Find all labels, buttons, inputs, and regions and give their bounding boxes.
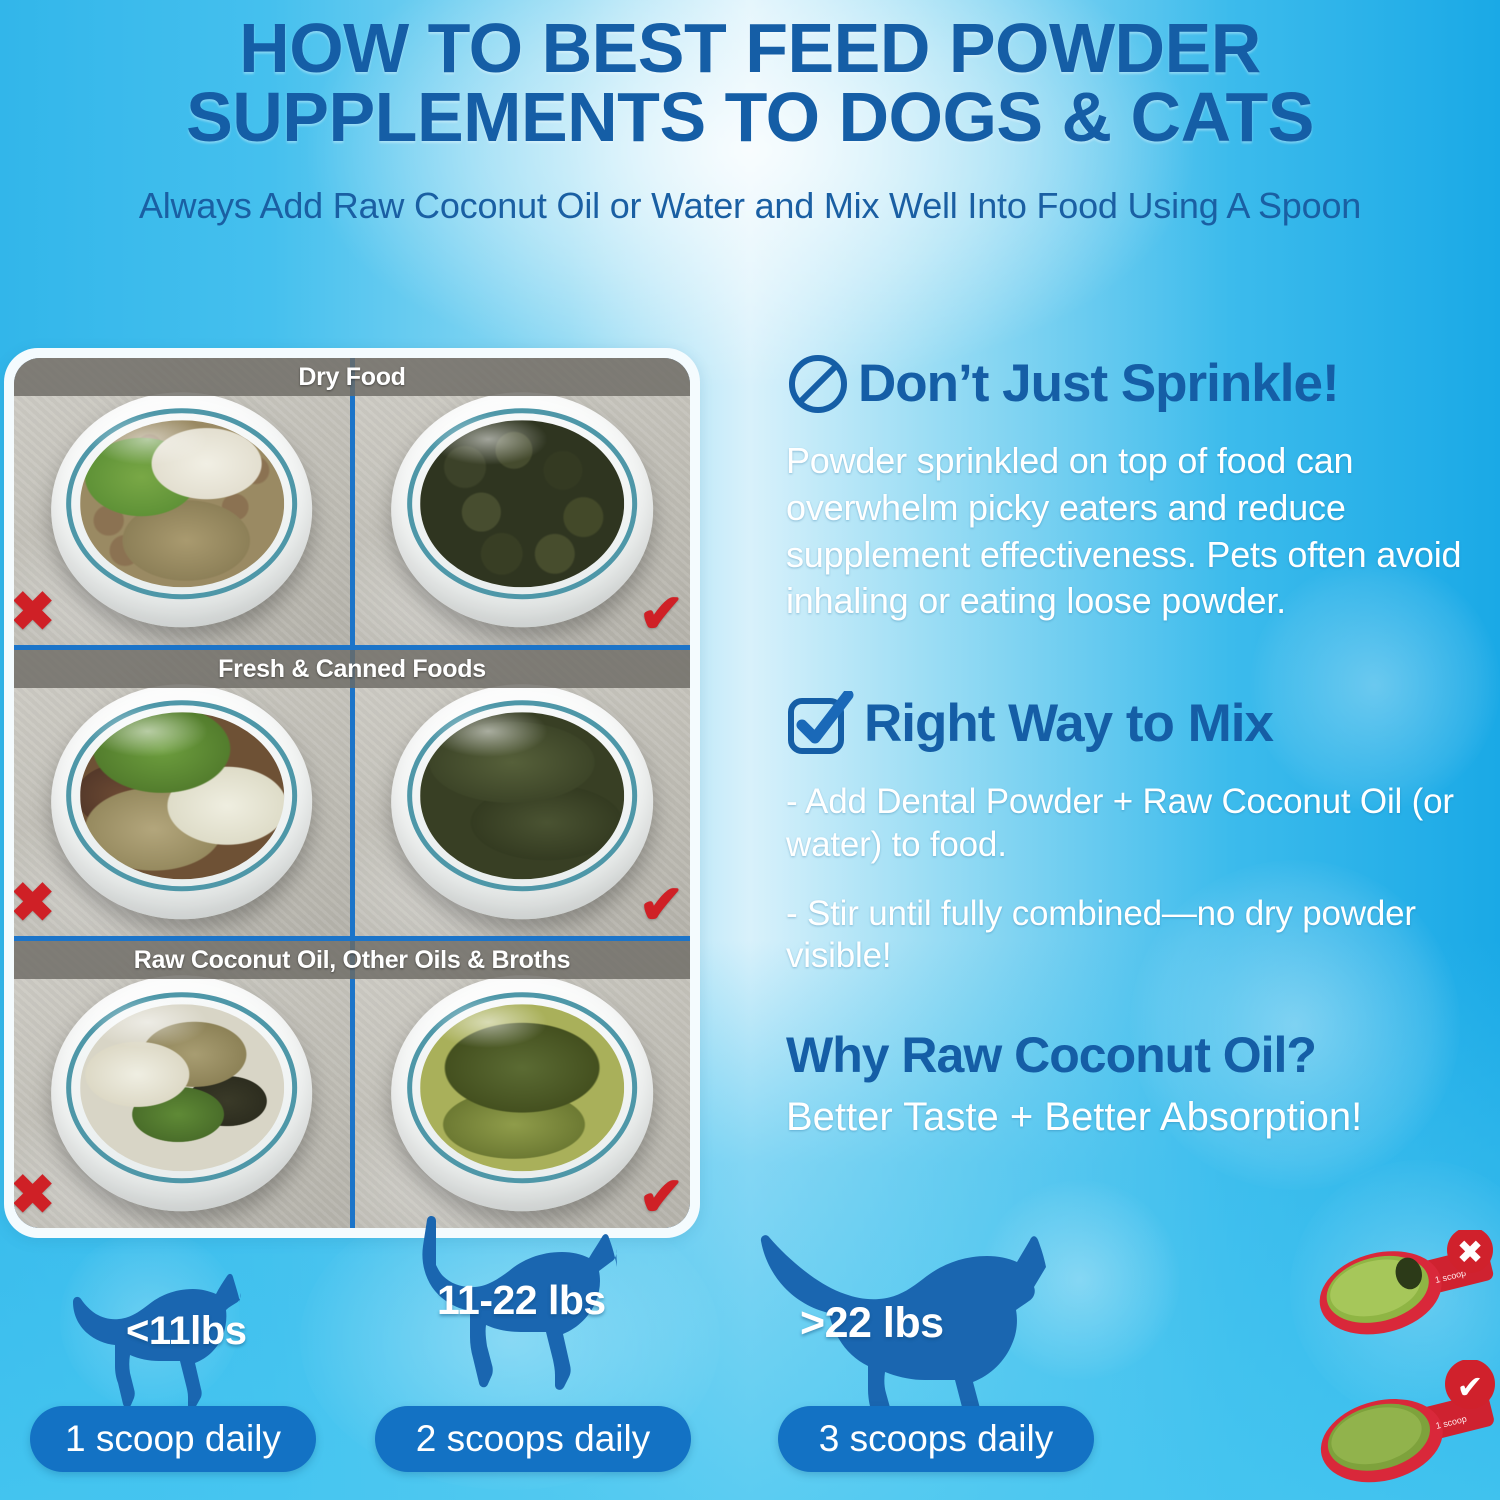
bowl-glare (428, 413, 548, 465)
check-mark: ✔ (639, 1170, 684, 1224)
scoop-mixed-powder: 1 scoop ✔ (1318, 1360, 1500, 1498)
prohibition-icon (786, 352, 850, 416)
check-badge: ✔ (1457, 1369, 1484, 1405)
bowl-glare (88, 413, 208, 465)
bowl-glare (428, 705, 548, 757)
photo-comparison-card: Dry Food ✖ (4, 348, 700, 1238)
dose-pill-large[interactable]: 3 scoops daily (778, 1406, 1094, 1472)
mix-bullet-1: - Add Dental Powder + Raw Coconut Oil (o… (786, 781, 1476, 866)
bowl-glare (428, 997, 548, 1049)
page-title: HOW TO BEST FEED POWDER SUPPLEMENTS TO D… (0, 14, 1500, 151)
sprinkle-heading: Don’t Just Sprinkle! (858, 357, 1339, 411)
why-heading: Why Raw Coconut Oil? (786, 1030, 1476, 1081)
scoop-dry-powder: 1 scoop ✖ (1318, 1230, 1500, 1360)
mix-bullet-2: - Stir until fully combined—no dry powde… (786, 893, 1476, 978)
photo-grid: Dry Food ✖ (14, 358, 690, 1228)
header: HOW TO BEST FEED POWDER SUPPLEMENTS TO D… (0, 14, 1500, 227)
weight-label-medium: 11-22 lbs (437, 1277, 606, 1324)
food-bowl (51, 392, 313, 628)
bowl-scene (14, 650, 350, 937)
checkbox-checked-icon (786, 691, 856, 757)
food-bowl (391, 684, 653, 920)
photo-cell-mixed: ✔ (355, 650, 691, 937)
photo-cell-unmixed: ✖ (14, 650, 350, 937)
x-mark: ✖ (14, 1168, 55, 1222)
dosage-item-large: >22 lbs 3 scoops daily (750, 1222, 1110, 1482)
food-bowl (51, 976, 313, 1212)
bowl-scene (14, 941, 350, 1228)
photo-row-label: Fresh & Canned Foods (14, 650, 690, 688)
photo-cell-unmixed: ✖ (14, 358, 350, 645)
bowl-glare (88, 705, 208, 757)
food-bowl (391, 976, 653, 1212)
photo-row-dry-food: Dry Food ✖ (14, 358, 690, 645)
photo-row-oils-broths: Raw Coconut Oil, Other Oils & Broths ✖ (14, 941, 690, 1228)
mix-heading-row: Right Way to Mix (786, 691, 1476, 757)
food-bowl (51, 684, 313, 920)
bowl-glare (88, 997, 208, 1049)
dosage-guide: <11lbs 1 scoop daily 11-22 lbs 2 scoops … (0, 1230, 1140, 1500)
why-subheading: Better Taste + Better Absorption! (786, 1095, 1476, 1139)
sprinkle-heading-row: Don’t Just Sprinkle! (786, 352, 1476, 416)
x-mark: ✖ (14, 876, 55, 930)
weight-label-small: <11lbs (126, 1309, 246, 1354)
x-mark: ✖ (14, 585, 55, 639)
check-mark: ✔ (639, 878, 684, 932)
check-mark: ✔ (639, 587, 684, 641)
bowl-scene (14, 358, 350, 645)
photo-cell-unmixed: ✖ (14, 941, 350, 1228)
photo-row-fresh-canned: Fresh & Canned Foods ✖ (14, 650, 690, 937)
photo-cell-mixed: ✔ (355, 941, 691, 1228)
dose-pill-small[interactable]: 1 scoop daily (30, 1406, 316, 1472)
food-bowl (391, 392, 653, 628)
title-line-2: SUPPLEMENTS TO DOGS & CATS (58, 83, 1442, 152)
instructions-column: Don’t Just Sprinkle! Powder sprinkled on… (786, 352, 1476, 1139)
weight-label-large: >22 lbs (800, 1299, 944, 1348)
sprinkle-body-text: Powder sprinkled on top of food can over… (786, 438, 1476, 625)
photo-cell-mixed: ✔ (355, 358, 691, 645)
photo-row-label: Dry Food (14, 358, 690, 396)
page-subtitle: Always Add Raw Coconut Oil or Water and … (0, 185, 1500, 227)
dosage-item-small: <11lbs 1 scoop daily (30, 1232, 330, 1482)
x-badge: ✖ (1457, 1234, 1484, 1270)
photo-row-label: Raw Coconut Oil, Other Oils & Broths (14, 941, 690, 979)
title-line-1: HOW TO BEST FEED POWDER (58, 14, 1442, 83)
mix-heading: Right Way to Mix (864, 697, 1273, 751)
dose-pill-medium[interactable]: 2 scoops daily (375, 1406, 691, 1472)
dosage-item-medium: 11-22 lbs 2 scoops daily (375, 1222, 705, 1482)
